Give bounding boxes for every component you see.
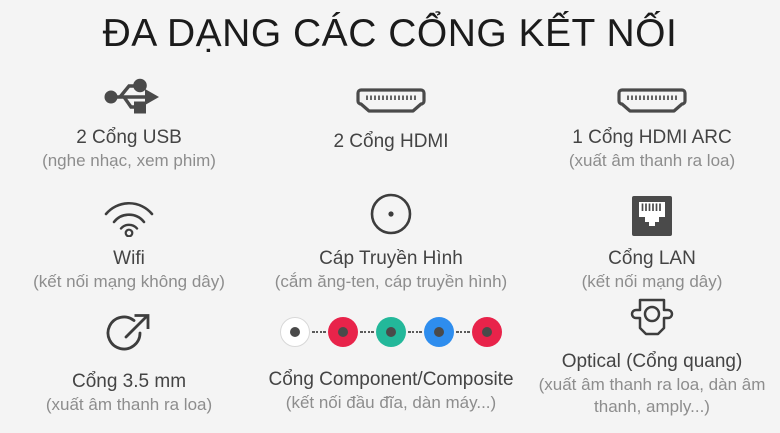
- ports-grid: 2 Cổng USB (nghe nhạc, xem phim) 2 Cổng …: [0, 72, 780, 433]
- rca-connector-green: [376, 317, 406, 347]
- usb-icon: [0, 72, 258, 116]
- port-cell-hdmi-arc: 1 Cổng HDMI ARC (xuất âm thanh ra loa): [524, 72, 780, 172]
- hdmi-arc-port-icon: [524, 72, 780, 116]
- port-label: Cổng Component/Composite: [258, 367, 524, 392]
- port-cell-coaxial: Cáp Truyền Hình (cắm ăng-ten, cáp truyền…: [258, 191, 524, 293]
- rca-connector-red-component: [472, 317, 502, 347]
- port-label: 2 Cổng HDMI: [258, 129, 524, 154]
- cable-dots: [358, 330, 376, 334]
- port-label: Wifi: [0, 246, 258, 271]
- port-sublabel: (xuất âm thanh ra loa): [0, 394, 258, 416]
- optical-toslink-icon: [524, 300, 780, 340]
- port-label: Cổng 3.5 mm: [0, 369, 258, 394]
- lan-rj45-icon: [524, 191, 780, 237]
- port-cell-wifi: Wifi (kết nối mạng không dây): [0, 191, 258, 293]
- port-cell-lan: Cổng LAN (kết nối mạng dây): [524, 191, 780, 293]
- port-cell-usb: 2 Cổng USB (nghe nhạc, xem phim): [0, 72, 258, 172]
- wifi-icon: [0, 191, 258, 237]
- port-cell-hdmi: 2 Cổng HDMI: [258, 72, 524, 154]
- port-label: 2 Cổng USB: [0, 125, 258, 150]
- port-label: Optical (Cổng quang): [524, 349, 780, 374]
- port-label: 1 Cổng HDMI ARC: [524, 125, 780, 150]
- port-cell-optical: Optical (Cổng quang) (xuất âm thanh ra l…: [524, 300, 780, 418]
- port-sublabel: (xuất âm thanh ra loa, dàn âm thanh, amp…: [537, 374, 767, 418]
- hdmi-port-icon: [258, 72, 524, 116]
- port-sublabel: (kết nối đầu đĩa, dàn máy...): [258, 392, 524, 414]
- port-sublabel: (kết nối mạng dây): [524, 271, 780, 293]
- port-sublabel: (kết nối mạng không dây): [0, 271, 258, 293]
- rca-connector-white: [280, 317, 310, 347]
- port-cell-35mm: Cổng 3.5 mm (xuất âm thanh ra loa): [0, 310, 258, 416]
- port-label: Cáp Truyền Hình: [258, 246, 524, 271]
- port-cell-component-composite: Cổng Component/Composite (kết nối đầu đĩ…: [258, 310, 524, 414]
- port-sublabel: (cắm ăng-ten, cáp truyền hình): [258, 271, 524, 293]
- port-label: Cổng LAN: [524, 246, 780, 271]
- cable-dots: [310, 330, 328, 334]
- rca-component-composite-icon: [258, 310, 524, 354]
- coaxial-antenna-icon: [258, 191, 524, 237]
- audio-out-arrow-icon: [0, 310, 258, 356]
- rca-connector-red-audio: [328, 317, 358, 347]
- port-sublabel: (xuất âm thanh ra loa): [524, 150, 780, 172]
- cable-dots: [454, 330, 472, 334]
- port-sublabel: (nghe nhạc, xem phim): [0, 150, 258, 172]
- page-title: ĐA DẠNG CÁC CỔNG KẾT NỐI: [0, 8, 780, 60]
- rca-connector-blue: [424, 317, 454, 347]
- cable-dots: [406, 330, 424, 334]
